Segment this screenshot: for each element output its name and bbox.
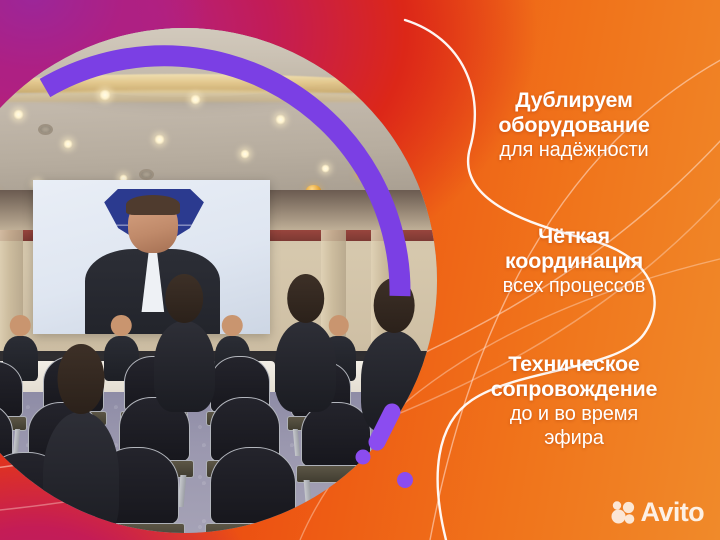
avito-watermark: Avito — [610, 499, 705, 526]
avito-wordmark: Avito — [641, 499, 705, 526]
banner-root: РОССЕТИ — [0, 0, 720, 540]
projection-screen: РОССЕТИ — [33, 180, 270, 334]
avito-dots-icon — [610, 501, 636, 525]
purple-dot-accent — [375, 455, 435, 505]
